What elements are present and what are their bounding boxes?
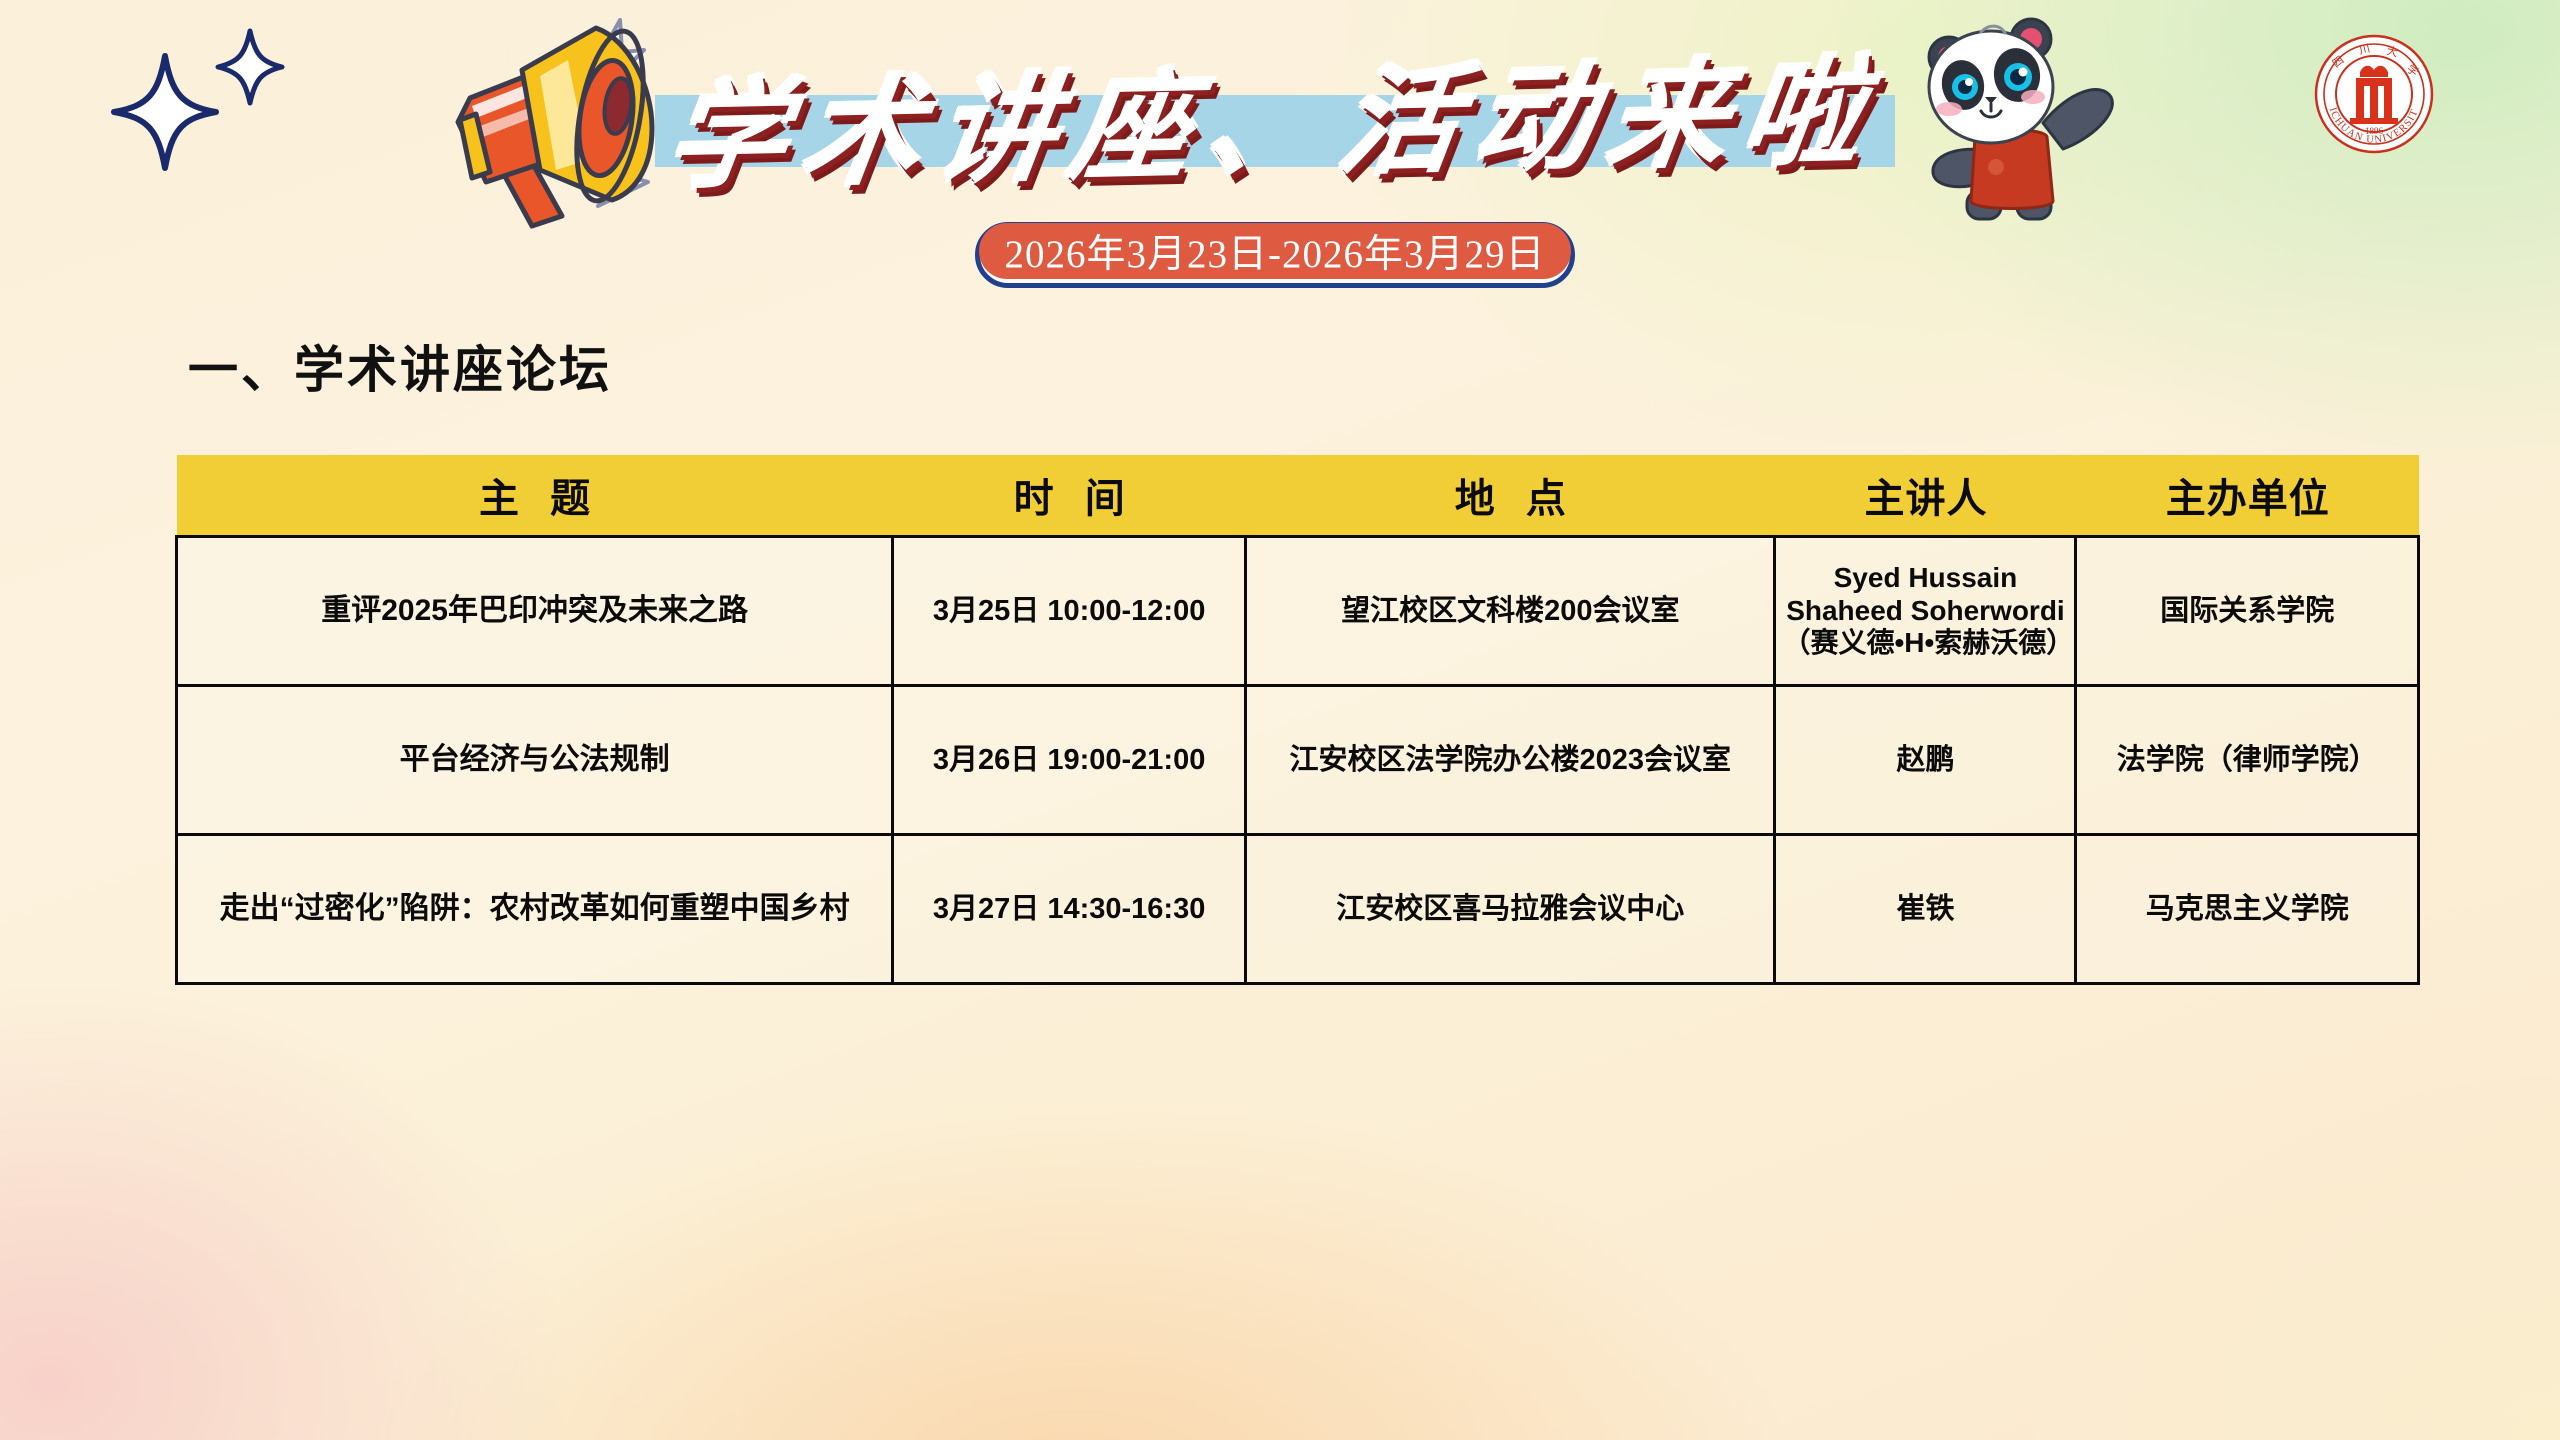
sparkle-icon-large [110, 52, 220, 172]
cell-topic: 平台经济与公法规制 [177, 686, 893, 835]
cell-topic: 重评2025年巴印冲突及未来之路 [177, 537, 893, 686]
table-row: 重评2025年巴印冲突及未来之路 3月25日 10:00-12:00 望江校区文… [177, 537, 2419, 686]
column-header-topic: 主 题 [177, 455, 893, 537]
cell-time: 3月27日 14:30-16:30 [893, 835, 1246, 984]
column-header-place: 地 点 [1246, 455, 1775, 537]
cell-org: 国际关系学院 [2076, 537, 2419, 686]
table-header-row: 主 题 时 间 地 点 主讲人 主办单位 [177, 455, 2419, 537]
cell-speaker: Syed Hussain Shaheed Soherwordi（赛义德•H•索赫… [1775, 537, 2076, 686]
table-row: 走出“过密化”陷阱：农村改革如何重塑中国乡村 3月27日 14:30-16:30… [177, 835, 2419, 984]
column-header-time: 时 间 [893, 455, 1246, 537]
cell-topic: 走出“过密化”陷阱：农村改革如何重塑中国乡村 [177, 835, 893, 984]
sichuan-university-logo: 1896 四 川 大 学 SICHUAN UNIVERSITY [2292, 32, 2457, 157]
sparkle-icon-small [215, 28, 285, 106]
table-row: 平台经济与公法规制 3月26日 19:00-21:00 江安校区法学院办公楼20… [177, 686, 2419, 835]
page-title: 学术讲座、活动来啦 [646, 15, 1903, 212]
cell-speaker: 崔铁 [1775, 835, 2076, 984]
cell-place: 江安校区法学院办公楼2023会议室 [1246, 686, 1775, 835]
poster-canvas: 学术讲座、活动来啦 [0, 0, 2560, 1440]
cell-time: 3月25日 10:00-12:00 [893, 537, 1246, 686]
lecture-schedule-table: 主 题 时 间 地 点 主讲人 主办单位 重评2025年巴印冲突及未来之路 3月… [175, 455, 2420, 985]
cell-place: 江安校区喜马拉雅会议中心 [1246, 835, 1775, 984]
panda-mascot-icon [1905, 5, 2130, 235]
column-header-speaker: 主讲人 [1775, 455, 2076, 537]
date-range-text: 2026年3月23日-2026年3月29日 [979, 223, 1571, 279]
cell-speaker: 赵鹏 [1775, 686, 2076, 835]
column-header-org: 主办单位 [2076, 455, 2419, 537]
cell-place: 望江校区文科楼200会议室 [1246, 537, 1775, 686]
cell-time: 3月26日 19:00-21:00 [893, 686, 1246, 835]
section-heading: 一、学术讲座论坛 [188, 330, 612, 402]
cell-org: 马克思主义学院 [2076, 835, 2419, 984]
cell-org: 法学院（律师学院） [2076, 686, 2419, 835]
date-range-badge: 2026年3月23日-2026年3月29日 [975, 222, 1575, 288]
